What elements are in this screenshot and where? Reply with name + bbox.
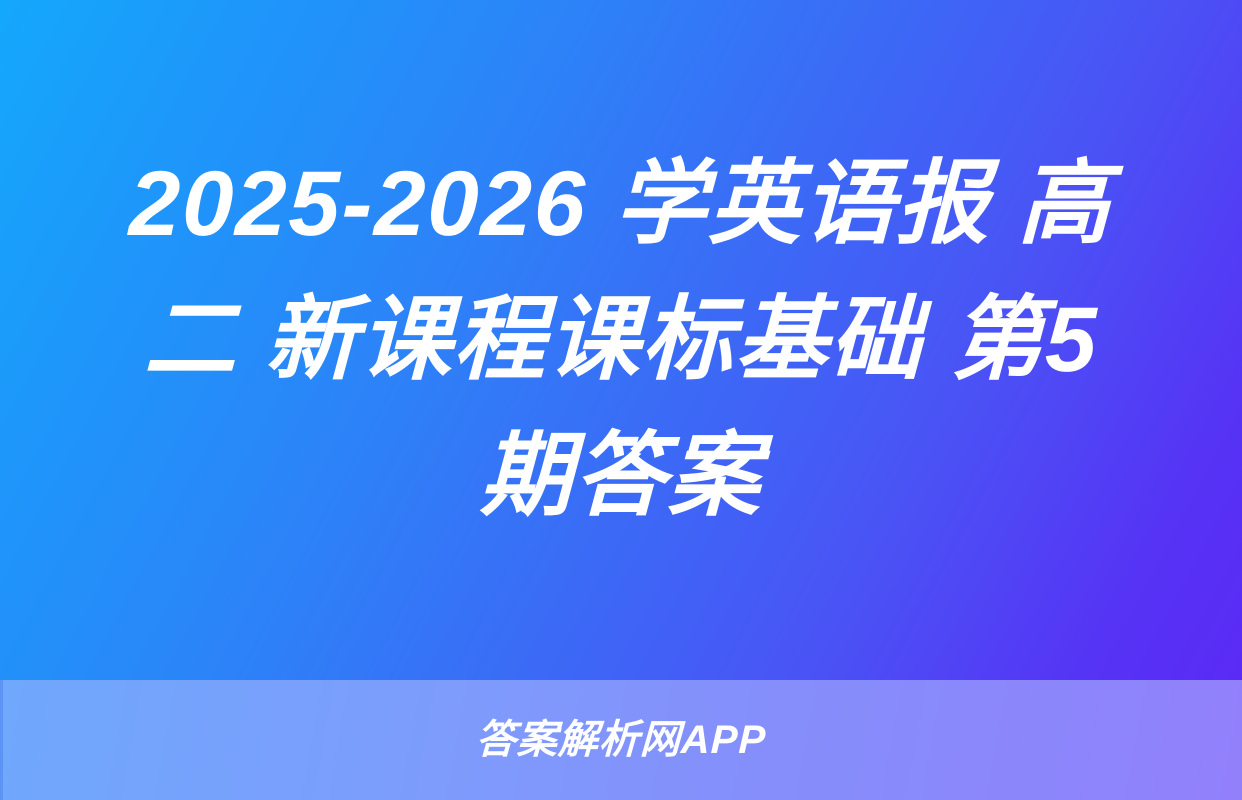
page-title-line-3: 期答案 bbox=[479, 408, 763, 544]
page-title-line-2: 二 新课程课标基础 第5 bbox=[143, 272, 1100, 408]
footer-left-edge-accent bbox=[0, 680, 3, 800]
poster-title-block: 2025-2026 学英语报 高 二 新课程课标基础 第5 期答案 bbox=[0, 0, 1242, 680]
page-title-line-1: 2025-2026 学英语报 高 bbox=[128, 136, 1113, 272]
footer-brand-band: 答案解析网APP bbox=[0, 680, 1242, 800]
poster-card: 2025-2026 学英语报 高 二 新课程课标基础 第5 期答案 答案解析网A… bbox=[0, 0, 1242, 800]
footer-brand-label: 答案解析网APP bbox=[475, 717, 767, 763]
